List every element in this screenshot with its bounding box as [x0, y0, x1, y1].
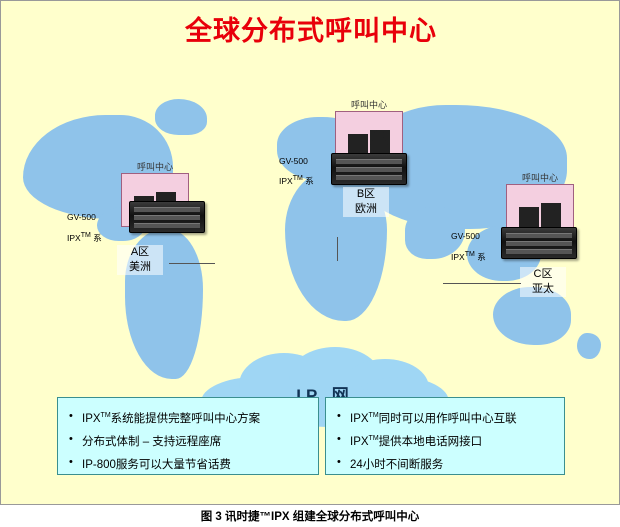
call-center-label-asiapac: 呼叫中心 [507, 171, 573, 184]
trademark-mark: TM [369, 435, 379, 442]
connector-asiapac-cloud [443, 283, 521, 284]
list-item: IPXTM同时可以用作呼叫中心互联 [350, 406, 558, 429]
trademark-mark: TM [101, 412, 111, 419]
bullet-text-post: 系统能提供完整呼叫中心方案 [111, 413, 261, 425]
bullet-text-pre: IPX [350, 413, 369, 425]
list-item: IPXTM系统能提供完整呼叫中心方案 [82, 406, 312, 429]
list-item: 分布式体制 – 支持远程座席 [82, 429, 312, 452]
bullet-text-pre: IPX [350, 436, 369, 448]
bullet-text-post: 提供本地电话网接口 [379, 436, 483, 448]
ipx-suffix: 系 [477, 252, 486, 262]
gateway-label-asiapac: GV-500 [451, 231, 480, 241]
benefits-list-right: IPXTM同时可以用作呼叫中心互联 IPXTM提供本地电话网接口 24小时不间断… [330, 406, 558, 474]
ipx-name: IPX [451, 252, 465, 262]
benefits-panel-right: IPXTM同时可以用作呼叫中心互联 IPXTM提供本地电话网接口 24小时不间断… [325, 397, 565, 475]
bullet-text-post: IP-800服务可以大量节省话费 [82, 458, 231, 470]
figure-page: 全球分布式呼叫中心 [0, 0, 620, 527]
trademark-mark: TM [369, 412, 379, 419]
list-item: IPXTM提供本地电话网接口 [350, 429, 558, 452]
bullet-text-post: 24小时不间断服务 [350, 458, 443, 470]
benefits-panel-left: IPXTM系统能提供完整呼叫中心方案 分布式体制 – 支持远程座席 IP-800… [57, 397, 319, 475]
bullet-text-post: 分布式体制 – 支持远程座席 [82, 436, 221, 448]
benefits-list-left: IPXTM系统能提供完整呼叫中心方案 分布式体制 – 支持远程座席 IP-800… [62, 406, 312, 474]
trademark-mark: TM [465, 251, 475, 258]
region-line-1: C区 [520, 267, 566, 282]
poster-canvas: 全球分布式呼叫中心 [0, 0, 620, 505]
list-item: IP-800服务可以大量节省话费 [82, 452, 312, 475]
figure-caption: 图 3 讯时捷™IPX 组建全球分布式呼叫中心 [0, 508, 620, 524]
person-icon [541, 203, 561, 229]
region-line-2: 亚太 [520, 282, 566, 297]
gateway-device-asiapac [501, 227, 577, 259]
region-box-asiapac: C区 亚太 [520, 267, 566, 297]
bullet-text-post: 同时可以用作呼叫中心互联 [379, 413, 517, 425]
ipx-label-asiapac: IPXTM 系 [451, 251, 486, 263]
list-item: 24小时不间断服务 [350, 452, 558, 475]
bullet-text-pre: IPX [82, 413, 101, 425]
